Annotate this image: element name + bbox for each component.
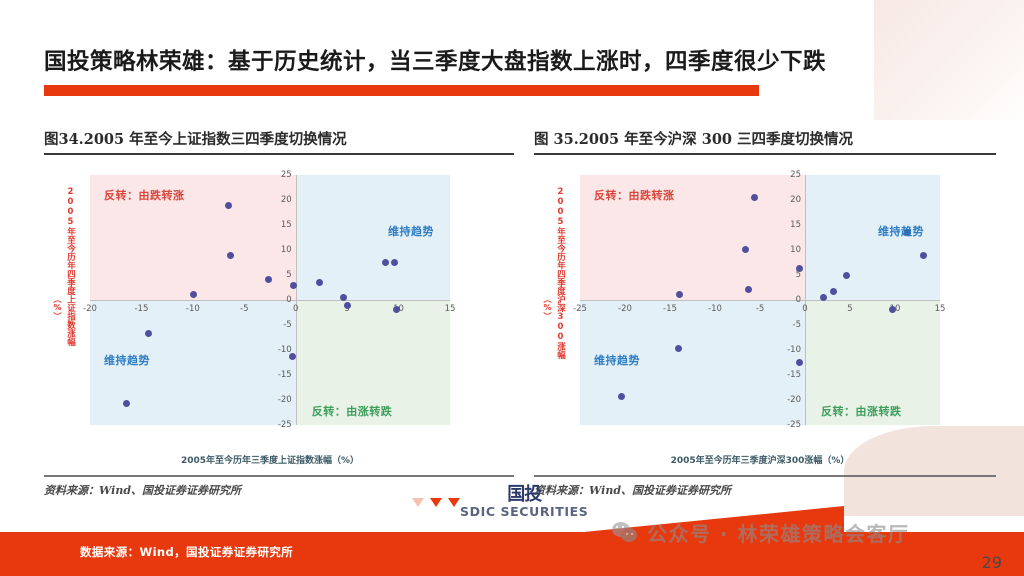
data-point: [382, 259, 389, 266]
quadrant-label-trend-down: 维持趋势: [594, 352, 640, 368]
quadrant-label-trend-up: 维持趋势: [878, 223, 924, 239]
logo-english-name: SDIC SECURITIES: [460, 504, 588, 519]
data-point: [676, 291, 683, 298]
y-tick-label: 20: [270, 195, 292, 205]
data-point: [391, 259, 398, 266]
x-axis-caption: 2005年至今历年三季度沪深300涨幅（%）: [671, 453, 850, 466]
y-axis-caption: 2005年至今历年四季度沪深300涨幅: [556, 187, 565, 427]
y-tick-label: -15: [779, 370, 801, 380]
y-tick-label: 15: [779, 220, 801, 230]
title-underline-bar: [44, 85, 759, 96]
y-tick-label: 0: [779, 295, 801, 305]
y-tick-label: 15: [270, 220, 292, 230]
x-axis-caption: 2005年至今历年三季度上证指数涨幅（%）: [181, 453, 359, 466]
data-point: [393, 306, 400, 313]
data-point: [830, 288, 837, 295]
data-point: [225, 202, 232, 209]
x-tick-label: -5: [756, 304, 764, 314]
footer-source-note: 数据来源：Wind，国投证券证券研究所: [80, 544, 293, 560]
y-tick-label: 20: [779, 195, 801, 205]
chevron-down-icon: [412, 498, 424, 507]
x-tick-label: 0: [293, 304, 298, 314]
x-axis-line: [580, 300, 940, 301]
y-tick-label: -20: [779, 395, 801, 405]
chevron-down-icon: [448, 498, 460, 507]
source-note-right: 资料来源：Wind、国投证券证券研究所: [534, 477, 996, 498]
data-point: [289, 353, 296, 360]
y-tick-label: 25: [779, 170, 801, 180]
corner-decoration-top-right: [874, 0, 1024, 120]
quadrant-label-reversal-up: 反转：由跌转涨: [104, 187, 185, 203]
data-point: [820, 294, 827, 301]
data-point: [123, 400, 130, 407]
data-point: [745, 286, 752, 293]
watermark: 公众号 · 林荣雄策略会客厅: [612, 518, 910, 547]
y-tick-label: -10: [270, 345, 292, 355]
data-point: [145, 330, 152, 337]
quadrant-label-trend-up: 维持趋势: [388, 223, 434, 239]
x-tick-label: -20: [83, 304, 97, 314]
quadrant-label-reversal-down: 反转：由涨转跌: [312, 403, 393, 419]
data-point: [290, 282, 297, 289]
y-tick-label: -25: [779, 420, 801, 430]
quadrant-label-reversal-down: 反转：由涨转跌: [821, 403, 902, 419]
x-tick-label: -10: [186, 304, 200, 314]
y-tick-label: -15: [270, 370, 292, 380]
data-point: [796, 359, 803, 366]
data-point: [751, 194, 758, 201]
y-axis-caption: 2005年至今历年四季度上证指数涨幅: [66, 187, 75, 427]
scatter-plot-right: -25-20-15-10-50510152520151050-5-10-15-2…: [534, 167, 996, 467]
x-tick-label: 0: [802, 304, 807, 314]
x-tick-label: -25: [573, 304, 587, 314]
data-point: [675, 345, 682, 352]
x-tick-label: 15: [935, 304, 946, 314]
y-tick-label: -25: [270, 420, 292, 430]
x-tick-label: -15: [663, 304, 677, 314]
x-tick-label: 15: [445, 304, 456, 314]
data-point: [227, 252, 234, 259]
source-note-left: 资料来源：Wind、国投证券证券研究所: [44, 477, 514, 498]
data-point: [340, 294, 347, 301]
x-tick-label: -10: [708, 304, 722, 314]
chart-title-right: 图 35.2005 年至今沪深 300 三四季度切换情况: [534, 128, 996, 153]
chart-title-left: 图34.2005 年至今上证指数三四季度切换情况: [44, 128, 514, 153]
y-tick-label: -5: [779, 320, 801, 330]
y-axis-line: [805, 175, 806, 425]
x-tick-label: -20: [618, 304, 632, 314]
y-axis-line: [296, 175, 297, 425]
chart-title-rule-left: [44, 153, 514, 155]
page-title: 国投策略林荣雄：基于历史统计，当三季度大盘指数上涨时，四季度很少下跌: [44, 44, 826, 76]
data-point: [920, 252, 927, 259]
data-point: [843, 272, 850, 279]
y-axis-unit: （%）: [52, 295, 63, 320]
page-number: 29: [982, 553, 1002, 572]
y-tick-label: -20: [270, 395, 292, 405]
y-tick-label: 5: [270, 270, 292, 280]
chevron-down-icon: [430, 498, 442, 507]
y-tick-label: 10: [779, 245, 801, 255]
quadrant-label-reversal-up: 反转：由跌转涨: [594, 187, 675, 203]
data-point: [190, 291, 197, 298]
wechat-icon: [612, 522, 638, 544]
watermark-text: 公众号 · 林荣雄策略会客厅: [647, 518, 910, 547]
quadrant-label-trend-down: 维持趋势: [104, 352, 150, 368]
chart-panel-right: 图 35.2005 年至今沪深 300 三四季度切换情况 -25-20-15-1…: [534, 128, 996, 498]
y-tick-label: -5: [270, 320, 292, 330]
data-point: [344, 302, 351, 309]
chart-panel-left: 图34.2005 年至今上证指数三四季度切换情况 -20-15-10-50510…: [44, 128, 514, 498]
y-tick-label: -10: [779, 345, 801, 355]
sdic-logo: 国投 SDIC SECURITIES: [460, 486, 588, 519]
y-tick-label: 0: [270, 295, 292, 305]
y-tick-label: 25: [270, 170, 292, 180]
y-tick-label: 10: [270, 245, 292, 255]
slide-title-block: 国投策略林荣雄：基于历史统计，当三季度大盘指数上涨时，四季度很少下跌: [44, 44, 826, 96]
logo-chinese-name: 国投: [460, 486, 588, 504]
chart-title-rule-right: [534, 153, 996, 155]
x-tick-label: 5: [847, 304, 852, 314]
scatter-plot-left: -20-15-10-50510152520151050-5-10-15-20-2…: [44, 167, 514, 467]
data-point: [316, 279, 323, 286]
y-axis-unit: （%）: [542, 295, 553, 320]
x-tick-label: -5: [240, 304, 248, 314]
data-point: [889, 306, 896, 313]
logo-chevron-icons: [412, 498, 460, 507]
data-point: [618, 393, 625, 400]
x-tick-label: -15: [134, 304, 148, 314]
